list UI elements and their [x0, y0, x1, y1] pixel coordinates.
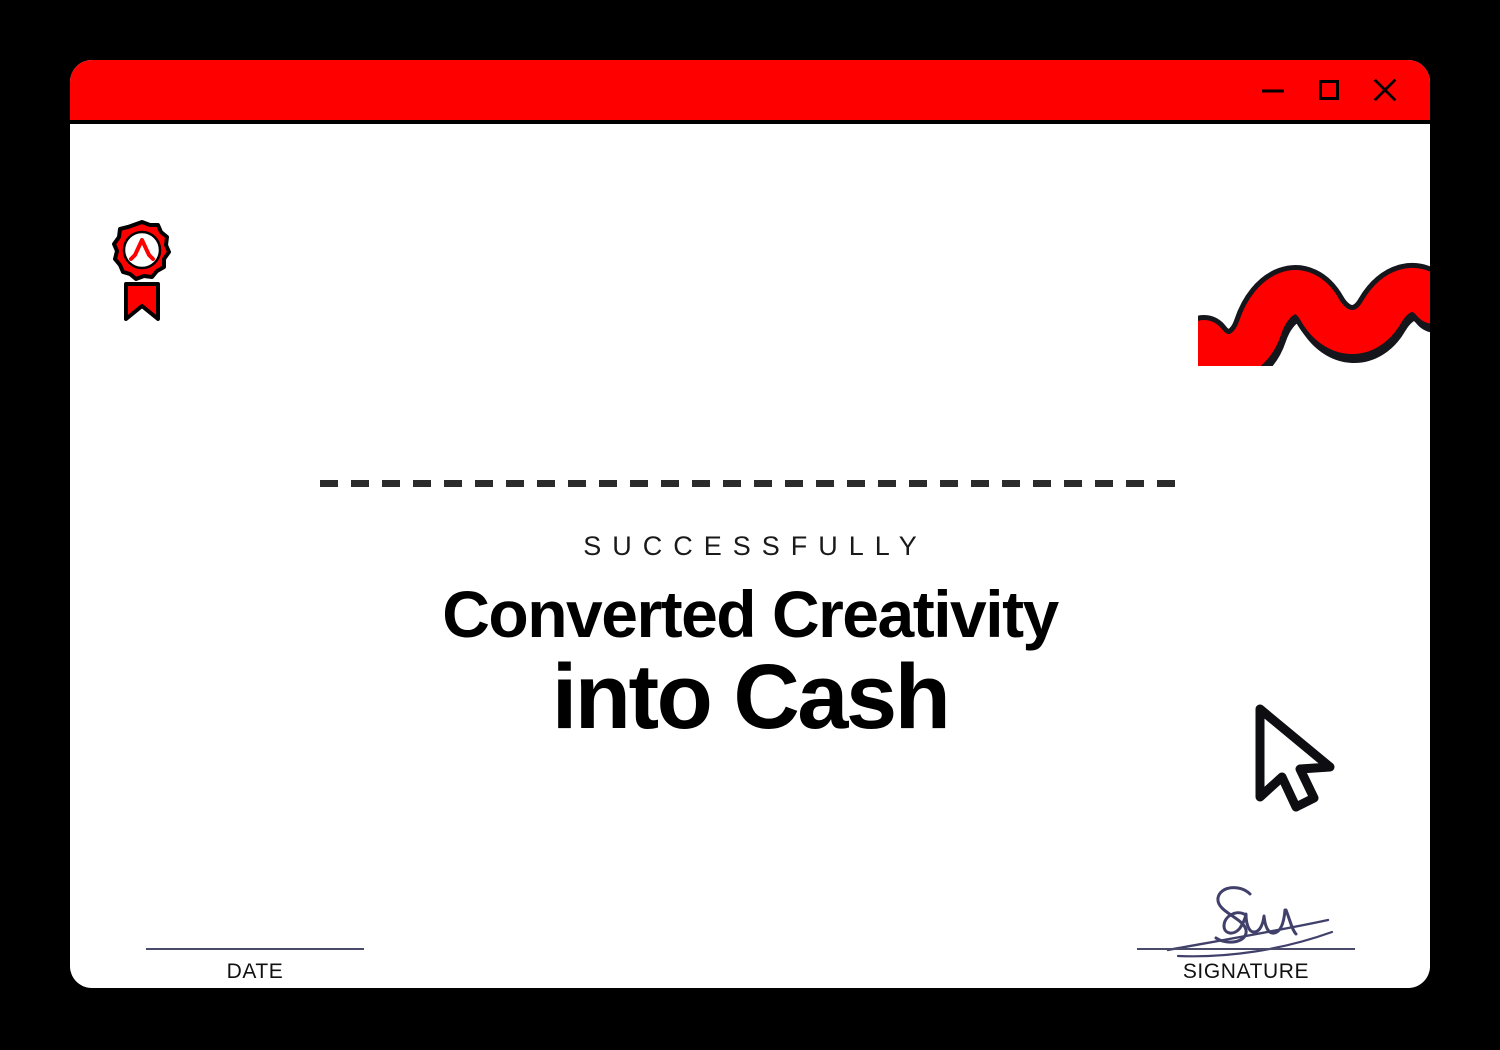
certificate-eyebrow: SUCCESSFULLY	[70, 531, 1430, 562]
minimize-button[interactable]	[1258, 75, 1288, 105]
close-icon	[1370, 74, 1400, 106]
certificate-headline-line-1: Converted Creativity	[70, 580, 1430, 649]
window-titlebar[interactable]	[70, 60, 1430, 124]
signature-field[interactable]: SIGNATURE	[1137, 948, 1355, 984]
minimize-icon	[1258, 75, 1288, 105]
wave-decoration	[1198, 216, 1430, 366]
signature-rule	[1137, 948, 1355, 950]
application-window: SUCCESSFULLY Converted Creativity into C…	[70, 60, 1430, 988]
certificate-content: SUCCESSFULLY Converted Creativity into C…	[70, 480, 1430, 745]
close-button[interactable]	[1370, 75, 1400, 105]
signature-label: SIGNATURE	[1137, 960, 1355, 984]
mouse-cursor	[1248, 703, 1344, 813]
dashed-divider	[320, 480, 1180, 487]
award-badge	[102, 216, 182, 326]
screen-background: SUCCESSFULLY Converted Creativity into C…	[0, 0, 1500, 1050]
window-controls	[1258, 75, 1400, 105]
date-rule	[146, 948, 364, 950]
mouse-pointer-icon	[1248, 703, 1344, 813]
award-ribbon-icon	[102, 216, 182, 326]
certificate-canvas: SUCCESSFULLY Converted Creativity into C…	[70, 128, 1430, 988]
maximize-icon	[1314, 75, 1344, 105]
date-label: DATE	[146, 960, 364, 984]
maximize-button[interactable]	[1314, 75, 1344, 105]
wave-ribbon-icon	[1198, 216, 1430, 366]
certificate-headline-line-2: into Cash	[70, 651, 1430, 745]
date-field[interactable]: DATE	[146, 948, 364, 984]
